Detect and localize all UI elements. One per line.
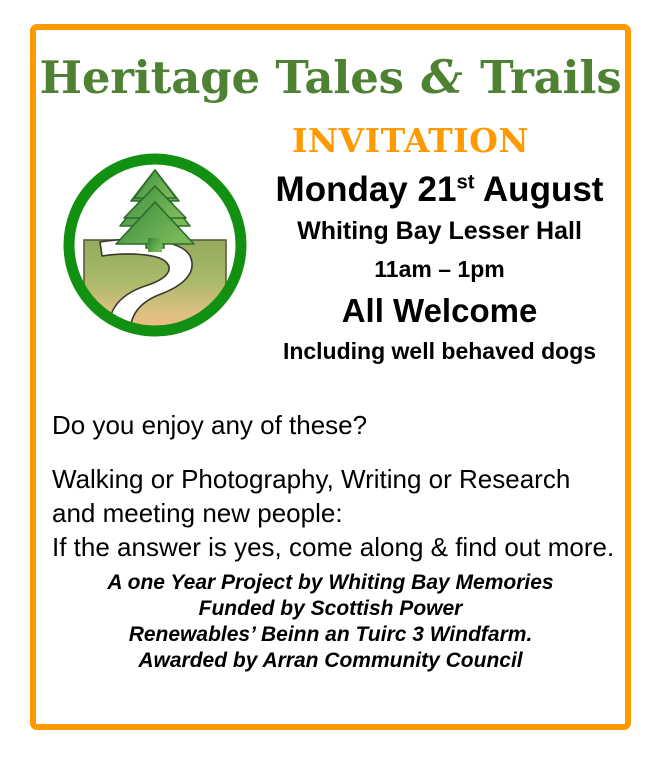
- body-question: Do you enjoy any of these?: [52, 408, 612, 442]
- body-lines: Walking or Photography, Writing or Resea…: [52, 462, 612, 564]
- credits-line-2: Funded by Scottish Power: [30, 596, 631, 622]
- body-line-3: If the answer is yes, come along & find …: [52, 530, 612, 564]
- event-time: 11am – 1pm: [248, 250, 631, 288]
- credits-line-1: A one Year Project by Whiting Bay Memori…: [30, 570, 631, 596]
- body-line-2: and meeting new people:: [52, 496, 612, 530]
- event-details: Monday 21st August Whiting Bay Lesser Ha…: [248, 168, 631, 368]
- event-date-ordinal: st: [456, 171, 474, 193]
- poster: Heritage Tales & Trails INVITATION: [0, 0, 661, 763]
- credits-block: A one Year Project by Whiting Bay Memori…: [30, 570, 631, 674]
- event-date-month: August: [474, 170, 603, 209]
- event-welcome-heading: All Welcome: [248, 288, 631, 334]
- title-part-two: Trails: [480, 51, 621, 104]
- event-dogs-note: Including well behaved dogs: [248, 334, 631, 368]
- credits-line-3: Renewables’ Beinn an Tuirc 3 Windfarm.: [30, 622, 631, 648]
- title-part-one: Heritage Tales: [40, 51, 404, 104]
- event-date-main: Monday 21: [276, 170, 457, 209]
- body-line-1: Walking or Photography, Writing or Resea…: [52, 462, 612, 496]
- credits-line-4: Awarded by Arran Community Council: [30, 648, 631, 674]
- body-copy: Do you enjoy any of these? Walking or Ph…: [52, 408, 612, 564]
- event-venue: Whiting Bay Lesser Hall: [248, 212, 631, 250]
- title-ampersand: &: [419, 50, 464, 104]
- page-title: Heritage Tales & Trails: [0, 52, 661, 103]
- event-date: Monday 21st August: [248, 168, 631, 212]
- heritage-tales-trails-logo-icon: [62, 152, 248, 338]
